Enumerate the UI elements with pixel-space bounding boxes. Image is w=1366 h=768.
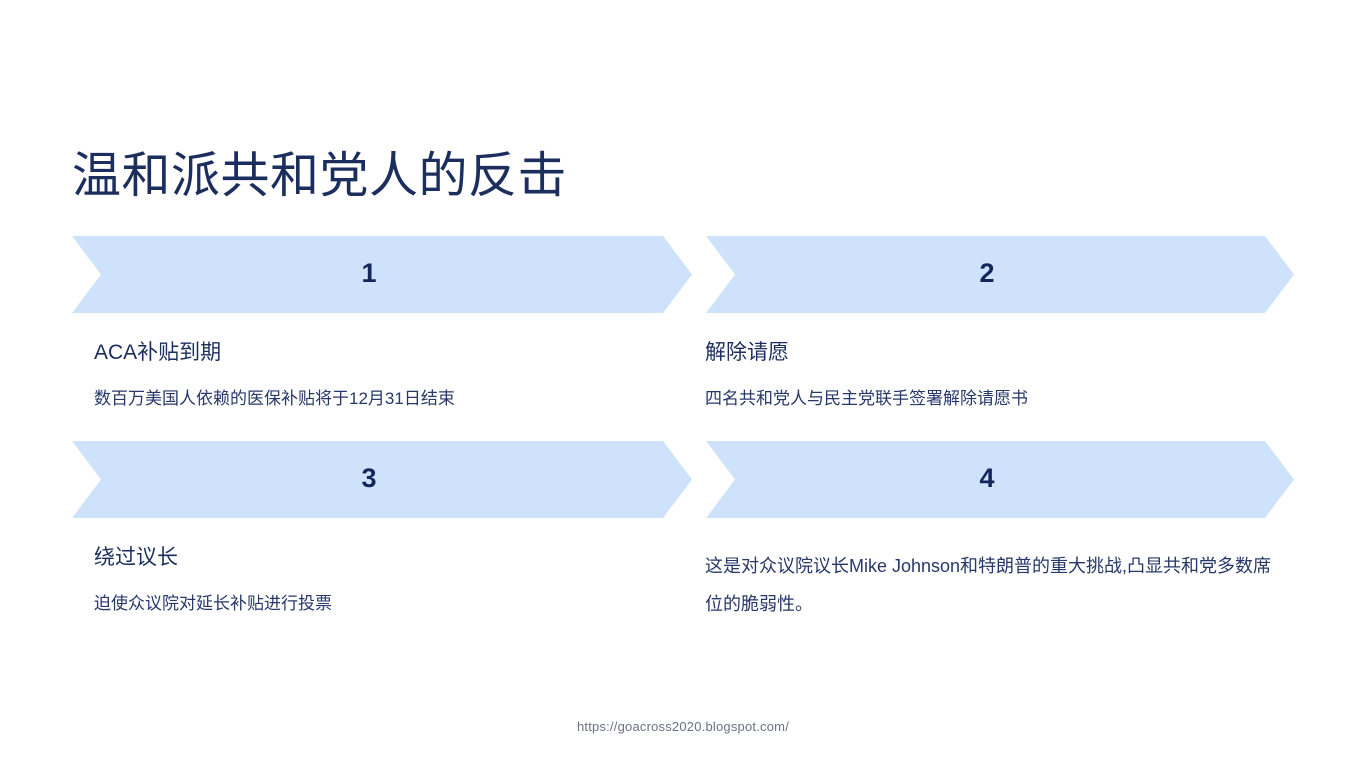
step-title-3: 绕过议长 (94, 543, 654, 573)
chevron-row-1: 1 2 (72, 236, 1294, 313)
chevron-step-2[interactable]: 2 (706, 236, 1294, 313)
step-text-3: 绕过议长 迫使众议院对延长补贴进行投票 (94, 543, 654, 620)
chevron-number-4: 4 (979, 465, 994, 492)
page-title: 温和派共和党人的反击 (72, 145, 567, 207)
chevron-number-1: 1 (361, 260, 376, 287)
step-text-2: 解除请愿 四名共和党人与民主党联手签署解除请愿书 (705, 338, 1275, 415)
step-description-1: 数百万美国人依赖的医保补贴将于12月31日结束 (94, 382, 654, 415)
step-description-4: 这是对众议院议长Mike Johnson和特朗普的重大挑战,凸显共和党多数席位的… (705, 547, 1275, 623)
step-text-4: 这是对众议院议长Mike Johnson和特朗普的重大挑战,凸显共和党多数席位的… (705, 543, 1275, 623)
chevron-number-3: 3 (361, 465, 376, 492)
footer-source-url[interactable]: https://goacross2020.blogspot.com/ (0, 719, 1366, 734)
slide-canvas: 温和派共和党人的反击 1 2 3 4 ACA补贴到期 数百万美国人依赖的医保补贴… (0, 0, 1366, 768)
chevron-step-1[interactable]: 1 (72, 236, 692, 313)
step-text-1: ACA补贴到期 数百万美国人依赖的医保补贴将于12月31日结束 (94, 338, 654, 415)
step-description-3: 迫使众议院对延长补贴进行投票 (94, 587, 654, 620)
chevron-step-3[interactable]: 3 (72, 441, 692, 518)
step-description-2: 四名共和党人与民主党联手签署解除请愿书 (705, 382, 1275, 415)
chevron-step-4[interactable]: 4 (706, 441, 1294, 518)
step-title-2: 解除请愿 (705, 338, 1275, 368)
chevron-row-2: 3 4 (72, 441, 1294, 518)
chevron-number-2: 2 (979, 260, 994, 287)
step-title-1: ACA补贴到期 (94, 338, 654, 368)
